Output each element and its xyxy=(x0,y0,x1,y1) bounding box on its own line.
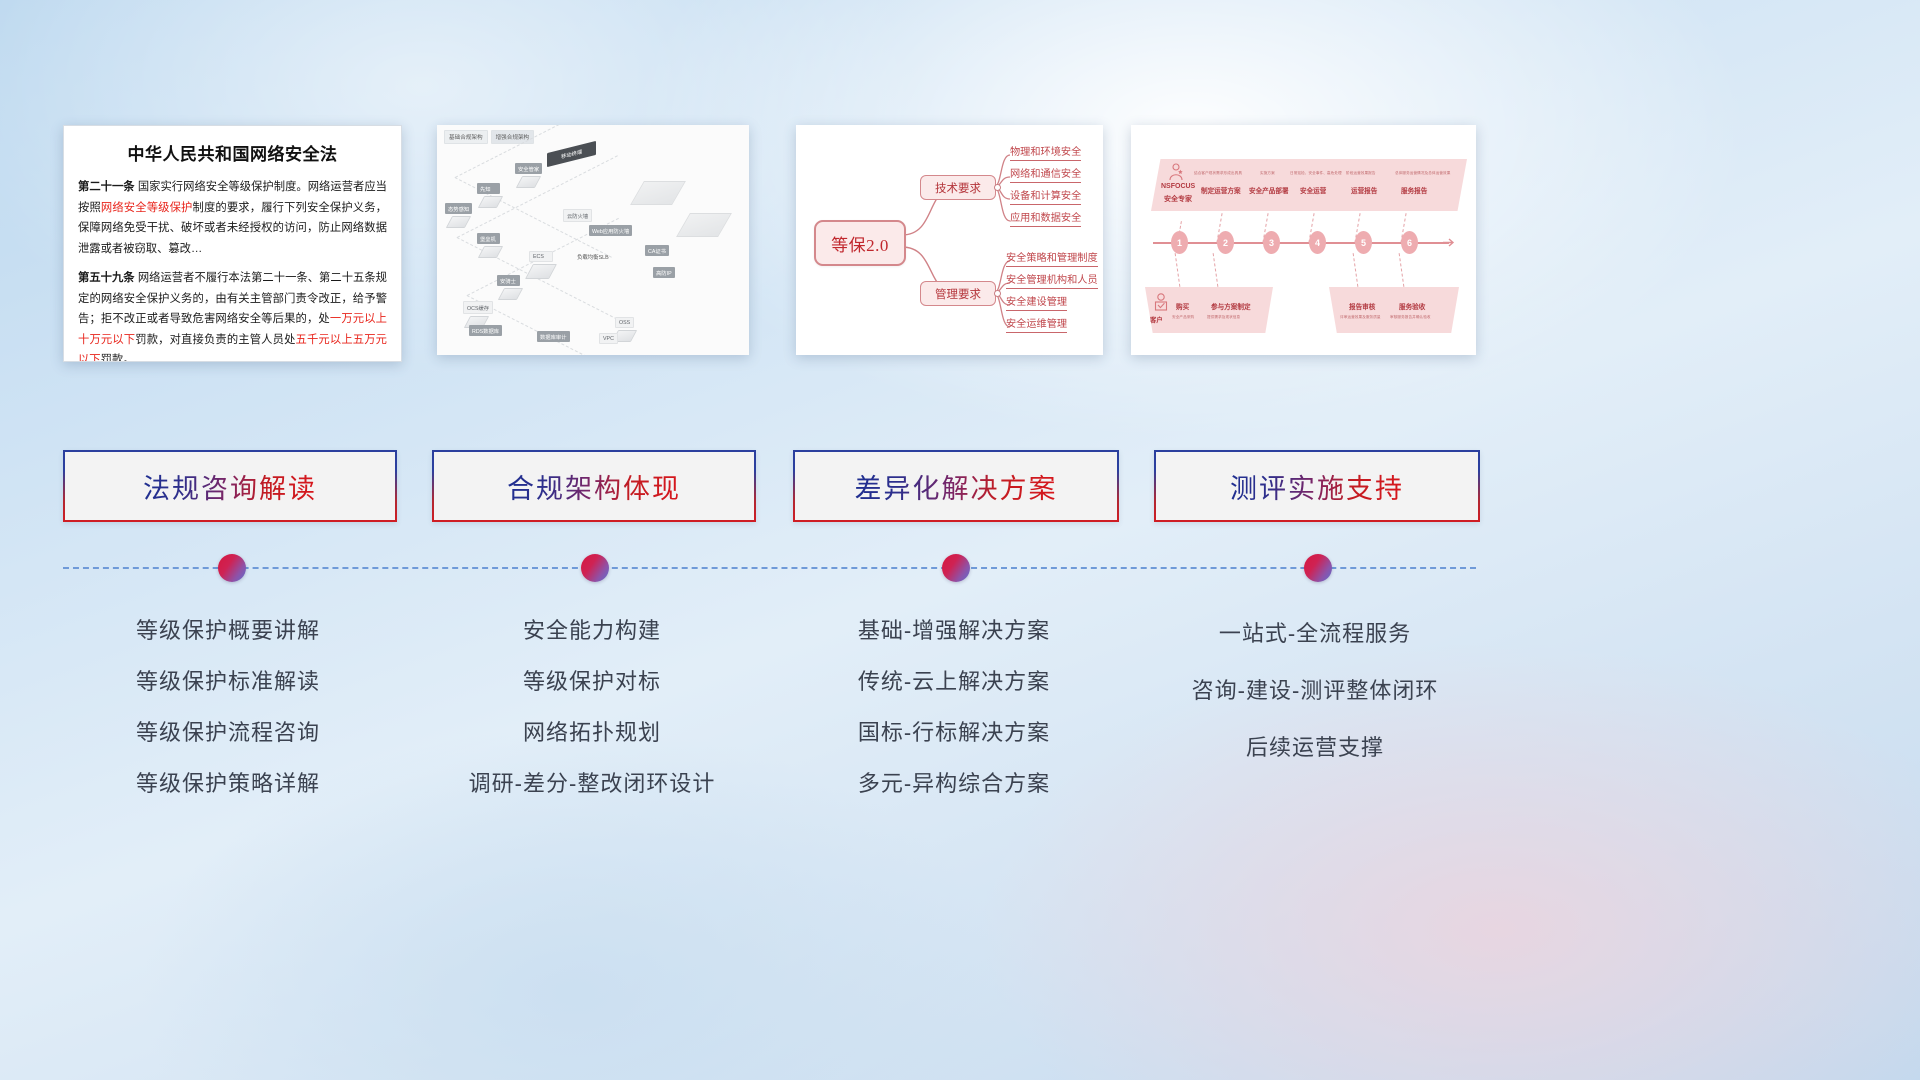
node-label: 负载均衡SLB xyxy=(577,253,609,261)
node-rds-database: RDS数据库 xyxy=(469,325,502,336)
node-label: 移动终端 xyxy=(547,141,596,167)
slide-canvas: 中华人民共和国网络安全法 第二十一条 国家实行网络安全等级保护制度。网络运营者应… xyxy=(0,0,1920,1080)
roadmap-bottom-sub: 安全产品采购 xyxy=(1172,315,1194,320)
list-item: 传统-云上解决方案 xyxy=(793,656,1115,707)
mindmap-branch-management: 管理要求 xyxy=(920,281,996,306)
law-run: 罚款，对直接负责的主管人员处 xyxy=(135,334,295,346)
node-anti-ddos-ip: 高防IP xyxy=(653,267,675,278)
law-paragraph-1: 第二十一条 国家实行网络安全等级保护制度。网络运营者应当按照网络安全等级保护制度… xyxy=(78,177,387,259)
roadmap-bottom-sub: 提供需求及现状信息 xyxy=(1207,315,1240,320)
roadmap-drop-line xyxy=(1175,253,1181,287)
node-vpc: VPC xyxy=(599,333,618,344)
list-item: 后续运营支撑 xyxy=(1154,719,1476,776)
mindmap-leaf: 安全管理机构和人员 xyxy=(1006,271,1098,289)
node-ca-certificate: CA证书 xyxy=(645,245,669,256)
mindmap-leaf: 安全策略和管理制度 xyxy=(1006,249,1098,267)
timeline-dot-2[interactable] xyxy=(581,554,609,582)
list-item: 调研-差分-整改闭环设计 xyxy=(432,758,752,809)
tab-basic-architecture[interactable]: 基础合规架构 xyxy=(444,130,488,144)
node-label: ECS xyxy=(529,251,553,262)
bullet-column-3: 基础-增强解决方案 传统-云上解决方案 国标-行标解决方案 多元-异构综合方案 xyxy=(793,605,1115,809)
node-situational-awareness: 态势感知 xyxy=(445,203,472,228)
customer-label: 客户 xyxy=(1150,315,1163,324)
law-run-highlight: 网络安全等级保护 xyxy=(101,202,193,214)
expert-label-line2: 安全专家 xyxy=(1164,194,1192,204)
mindmap-leaf: 网络和通信安全 xyxy=(1010,165,1081,183)
roadmap-node-4[interactable]: 4 xyxy=(1309,231,1326,254)
node-label: CA证书 xyxy=(645,245,669,256)
node-cube-icon xyxy=(525,264,557,279)
bullet-columns: 等级保护概要讲解 等级保护标准解读 等级保护流程咨询 等级保护策略详解 安全能力… xyxy=(0,605,1920,785)
title-button-evaluation-support[interactable]: 测评实施支持 xyxy=(1154,450,1480,522)
node-label: 云防火墙 xyxy=(563,209,592,222)
roadmap-drop-line xyxy=(1213,253,1219,287)
list-item: 等级保护流程咨询 xyxy=(63,707,393,758)
roadmap-bottom-sub: 评审运营效果及服务质量 xyxy=(1340,315,1381,320)
title-button-regulation-consulting[interactable]: 法规咨询解读 xyxy=(63,450,397,522)
roadmap-node-2[interactable]: 2 xyxy=(1217,231,1234,254)
node-waf: Web应用防火墙 xyxy=(589,225,632,236)
bullet-column-4: 一站式-全流程服务 咨询-建设-测评整体闭环 后续运营支撑 xyxy=(1154,605,1476,776)
node-label: 安全管家 xyxy=(515,163,542,174)
node-label: 堡垒机 xyxy=(477,233,500,244)
list-item: 咨询-建设-测评整体闭环 xyxy=(1154,662,1476,719)
timeline-dot-4[interactable] xyxy=(1304,554,1332,582)
node-label: OCS缓存 xyxy=(463,301,493,314)
mindmap-knob-icon[interactable] xyxy=(994,184,1001,191)
list-item: 网络拓扑规划 xyxy=(432,707,752,758)
list-item: 安全能力构建 xyxy=(432,605,752,656)
node-cloud-firewall: 云防火墙 xyxy=(563,209,592,222)
mindmap-root: 等保2.0 xyxy=(814,220,906,266)
node-security-butler: 安全管家 xyxy=(515,163,542,188)
title-button-compliance-architecture[interactable]: 合规架构体现 xyxy=(432,450,756,522)
title-button-differentiated-solution[interactable]: 差异化解决方案 xyxy=(793,450,1119,522)
roadmap-step-main: 运营报告 xyxy=(1351,185,1377,195)
terminal-plate-icon xyxy=(630,181,686,205)
roadmap-step-sub: 实施方案 xyxy=(1260,171,1275,176)
node-bastion-host: 堡垒机 xyxy=(477,233,500,258)
card-row: 中华人民共和国网络安全法 第二十一条 国家实行网络安全等级保护制度。网络运营者应… xyxy=(0,125,1920,365)
list-item: 等级保护对标 xyxy=(432,656,752,707)
roadmap-step-main: 服务报告 xyxy=(1401,185,1427,195)
mindmap-leaf: 设备和计算安全 xyxy=(1010,187,1081,205)
node-xianzhi: 先知 xyxy=(477,183,500,208)
law-card-title: 中华人民共和国网络安全法 xyxy=(64,140,401,165)
timeline xyxy=(63,567,1476,569)
tab-enhanced-architecture[interactable]: 增强合规架构 xyxy=(491,130,535,144)
title-button-label: 测评实施支持 xyxy=(1230,467,1404,506)
bullet-column-1: 等级保护概要讲解 等级保护标准解读 等级保护流程咨询 等级保护策略详解 xyxy=(63,605,393,809)
roadmap-drop-line xyxy=(1399,253,1405,287)
law-article-number-2: 第五十九条 xyxy=(78,272,135,284)
expert-person-icon xyxy=(1166,163,1186,181)
roadmap-diagram: NSFOCUS 安全专家 结合客户现状需求形成出具具 制定运营方案 实施方案 安… xyxy=(1131,125,1476,355)
node-mobile-terminal xyxy=(637,181,679,205)
node-label: 高防IP xyxy=(653,267,675,278)
node-label: 先知 xyxy=(477,183,500,194)
roadmap-bottom-step: 报告审核 xyxy=(1349,301,1375,311)
title-button-label: 合规架构体现 xyxy=(507,467,681,506)
roadmap-node-1[interactable]: 1 xyxy=(1171,231,1188,254)
roadmap-node-5[interactable]: 5 xyxy=(1355,231,1372,254)
roadmap-bottom-step: 参与方案制定 xyxy=(1211,301,1251,311)
list-item: 等级保护概要讲解 xyxy=(63,605,393,656)
node-label: OSS xyxy=(615,317,634,328)
mindmap-leaf: 物理和环境安全 xyxy=(1010,143,1081,161)
node-label: 数据库审计 xyxy=(537,331,570,342)
node-ecs: ECS xyxy=(529,251,553,279)
expert-label-line1: NSFOCUS xyxy=(1161,183,1195,190)
mindmap: 等保2.0 技术要求 管理要求 物理和环境安全 网络和通信安全 设备和计算安全 … xyxy=(796,125,1103,355)
node-cube-icon xyxy=(516,176,541,188)
list-item: 等级保护标准解读 xyxy=(63,656,393,707)
architecture-tabs: 基础合规架构 增强合规架构 xyxy=(444,130,534,144)
roadmap-arrow-icon xyxy=(1443,236,1457,250)
roadmap-step-sub: 阶段运营效果报告 xyxy=(1346,171,1376,176)
mindmap-branch-technical: 技术要求 xyxy=(920,175,996,200)
roadmap-step-sub: 总体服务运营情况及总体运营效果 xyxy=(1395,171,1450,176)
node-label: 态势感知 xyxy=(445,203,472,214)
timeline-dot-3[interactable] xyxy=(942,554,970,582)
list-item: 基础-增强解决方案 xyxy=(793,605,1115,656)
law-paragraph-2: 第五十九条 网络运营者不履行本法第二十一条、第二十五条规定的网络安全保护义务的，… xyxy=(78,268,387,362)
list-item: 国标-行标解决方案 xyxy=(793,707,1115,758)
law-card-body: 第二十一条 国家实行网络安全等级保护制度。网络运营者应当按照网络安全等级保护制度… xyxy=(64,177,401,362)
node-cube-icon xyxy=(478,196,503,208)
roadmap-step-main: 安全产品部署 xyxy=(1249,185,1289,195)
node-slb: 负载均衡SLB xyxy=(577,253,609,261)
law-article-number-1: 第二十一条 xyxy=(78,181,135,193)
node-database-audit: 数据库审计 xyxy=(537,331,570,342)
node-label: VPC xyxy=(599,333,618,344)
node-label: RDS数据库 xyxy=(469,325,502,336)
roadmap-step-main: 制定运营方案 xyxy=(1201,185,1241,195)
timeline-dashed-rule xyxy=(63,567,1476,569)
title-button-label: 法规咨询解读 xyxy=(143,467,317,506)
bullet-column-2: 安全能力构建 等级保护对标 网络拓扑规划 调研-差分-整改闭环设计 xyxy=(432,605,752,809)
roadmap-card[interactable]: NSFOCUS 安全专家 结合客户现状需求形成出具具 制定运营方案 实施方案 安… xyxy=(1131,125,1476,355)
cloud-architecture-card[interactable]: 基础合规架构 增强合规架构 移动终端 态势感知 先知 xyxy=(437,125,749,355)
customer-person-icon xyxy=(1153,293,1169,313)
law-card[interactable]: 中华人民共和国网络安全法 第二十一条 国家实行网络安全等级保护制度。网络运营者应… xyxy=(63,125,402,362)
roadmap-bottom-step: 服务验收 xyxy=(1399,301,1425,311)
architecture-diagram: 基础合规架构 增强合规架构 移动终端 态势感知 先知 xyxy=(437,125,749,355)
roadmap-drop-line xyxy=(1353,253,1359,287)
node-label: 安骑士 xyxy=(497,275,520,286)
list-item: 一站式-全流程服务 xyxy=(1154,605,1476,662)
mindmap-leaf: 应用和数据安全 xyxy=(1010,209,1081,227)
node-ocs-cache: OCS缓存 xyxy=(463,301,493,328)
node-label: Web应用防火墙 xyxy=(589,225,632,236)
law-run: 罚款。 xyxy=(101,354,135,362)
roadmap-bottom-sub: 审核服务报告并确认验收 xyxy=(1390,315,1431,320)
node-private-cloud: 移动终端 xyxy=(547,147,596,161)
node-cube-icon xyxy=(498,288,523,300)
list-item: 等级保护策略详解 xyxy=(63,758,393,809)
title-button-row: 法规咨询解读 合规架构体现 差异化解决方案 测评实施支持 xyxy=(0,450,1920,520)
mindmap-knob-icon[interactable] xyxy=(994,290,1001,297)
roadmap-step-main: 安全运营 xyxy=(1300,185,1326,195)
roadmap-node-6[interactable]: 6 xyxy=(1401,231,1418,254)
timeline-dot-1[interactable] xyxy=(218,554,246,582)
title-button-label: 差异化解决方案 xyxy=(855,467,1058,506)
node-cube-icon xyxy=(478,246,503,258)
mindmap-leaf: 安全建设管理 xyxy=(1006,293,1067,311)
roadmap-step-sub: 结合客户现状需求形成出具具 xyxy=(1194,171,1242,176)
node-cube-icon xyxy=(446,216,471,228)
terminal-plate-icon xyxy=(676,213,732,237)
node-pc-terminal xyxy=(683,213,725,237)
list-item: 多元-异构综合方案 xyxy=(793,758,1115,809)
roadmap-node-3[interactable]: 3 xyxy=(1263,231,1280,254)
node-agent-aqs: 安骑士 xyxy=(497,275,520,300)
roadmap-bottom-step: 购买 xyxy=(1176,301,1189,311)
roadmap-step-sub: 日常巡检、安全事件、高危处理 xyxy=(1290,171,1342,176)
mindmap-leaf: 安全运维管理 xyxy=(1006,315,1067,333)
mindmap-card[interactable]: 等保2.0 技术要求 管理要求 物理和环境安全 网络和通信安全 设备和计算安全 … xyxy=(796,125,1103,355)
